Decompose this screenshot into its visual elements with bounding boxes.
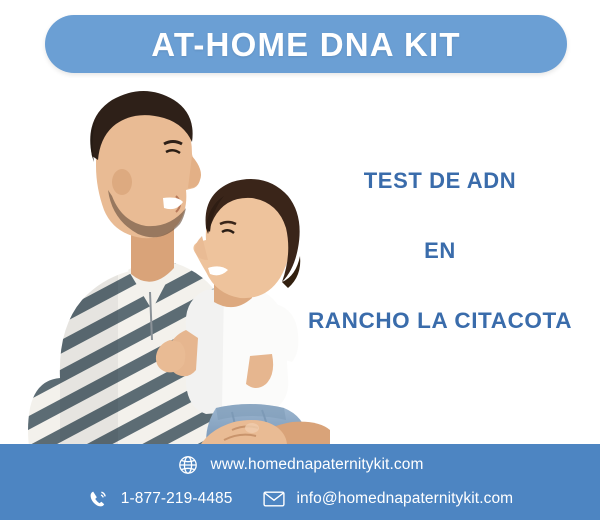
website-text: www.homednapaternitykit.com: [211, 457, 424, 473]
footer-bar: www.homednapaternitykit.com 1-877-219-44…: [0, 444, 600, 520]
website-item[interactable]: www.homednapaternitykit.com: [177, 454, 424, 476]
headline-block: TEST DE ADN EN RANCHO LA CITACOTA: [292, 160, 588, 333]
globe-icon: [177, 454, 199, 476]
email-text: info@homednapaternitykit.com: [297, 491, 514, 507]
headline-line-1: TEST DE ADN: [292, 170, 588, 192]
phone-item[interactable]: 1-877-219-4485: [87, 488, 233, 510]
family-photo-illustration: [0, 78, 330, 453]
footer-row-contact: 1-877-219-4485 info@homednapaternitykit.…: [0, 482, 600, 516]
footer-row-website: www.homednapaternitykit.com: [0, 448, 600, 482]
envelope-icon: [263, 488, 285, 510]
family-photo: [0, 78, 330, 453]
email-item[interactable]: info@homednapaternitykit.com: [263, 488, 514, 510]
phone-icon: [87, 488, 109, 510]
header-banner: AT-HOME DNA KIT: [45, 15, 567, 73]
poster-canvas: AT-HOME DNA KIT: [0, 0, 600, 520]
phone-text: 1-877-219-4485: [121, 491, 233, 507]
headline-line-2: EN: [292, 240, 588, 262]
headline-line-3: RANCHO LA CITACOTA: [292, 310, 588, 333]
page-title: AT-HOME DNA KIT: [151, 28, 460, 61]
man-ear: [112, 169, 132, 195]
